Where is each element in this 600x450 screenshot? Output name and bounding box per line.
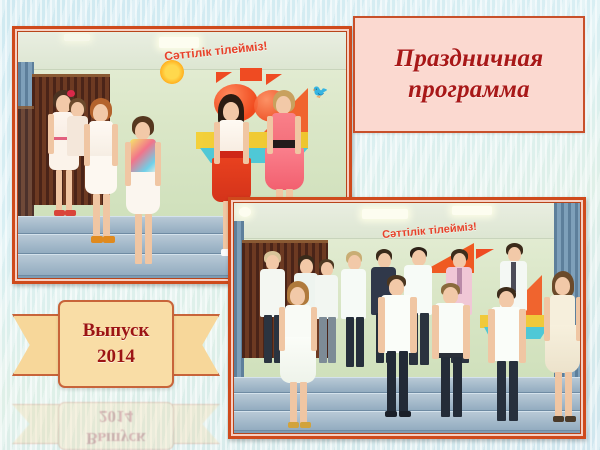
person-figure <box>121 116 165 279</box>
person-figure <box>430 283 472 434</box>
slide-title-box: Праздничная программа <box>353 16 585 133</box>
person-figure <box>486 287 528 434</box>
ribbon-reflection-center: Выпуск 2014 <box>58 402 174 450</box>
bird-decor-icon: 🐦 <box>312 84 328 100</box>
person-figure <box>80 98 122 268</box>
ribbon-reflection-text: Выпуск 2014 <box>86 405 146 449</box>
photo-group-on-stage[interactable]: Сәттілік тілейміз! <box>228 197 586 439</box>
photo2-inner: Сәттілік тілейміз! <box>233 202 581 434</box>
ceiling-lamp <box>452 206 492 215</box>
slide-canvas: Сәттілік тілейміз! 🐦 <box>0 0 600 450</box>
ribbon-reflection-line-2: 2014 <box>99 407 133 426</box>
page-title: Праздничная программа <box>387 44 552 105</box>
wall-lamp <box>239 207 251 217</box>
ribbon-center: Выпуск 2014 <box>58 300 174 388</box>
title-line-1: Праздничная <box>395 45 544 72</box>
photo2-scene: Сәттілік тілейміз! <box>234 203 580 433</box>
ceiling-lamp <box>362 209 408 219</box>
person-figure <box>276 281 320 434</box>
ribbon-reflection-line-1: Выпуск <box>86 429 146 448</box>
ribbon-text: Выпуск 2014 <box>83 318 150 369</box>
person-figure <box>338 251 370 385</box>
person-figure <box>542 271 581 433</box>
person-figure <box>376 275 418 434</box>
ribbon-reflection: Выпуск 2014 <box>12 392 220 450</box>
sun-decor-icon <box>160 60 184 84</box>
wood-panel <box>18 106 34 217</box>
ceiling-lamp <box>64 34 90 41</box>
ribbon-reflection-tail-left <box>12 404 80 444</box>
ribbon-line-1: Выпуск <box>83 320 150 341</box>
title-line-2: программа <box>408 76 530 103</box>
ribbon-reflection-tail-right <box>152 404 220 444</box>
ribbon-line-2: 2014 <box>97 346 135 367</box>
flag-decor <box>240 68 262 81</box>
ribbon-banner[interactable]: Выпуск 2014 <box>12 300 220 392</box>
